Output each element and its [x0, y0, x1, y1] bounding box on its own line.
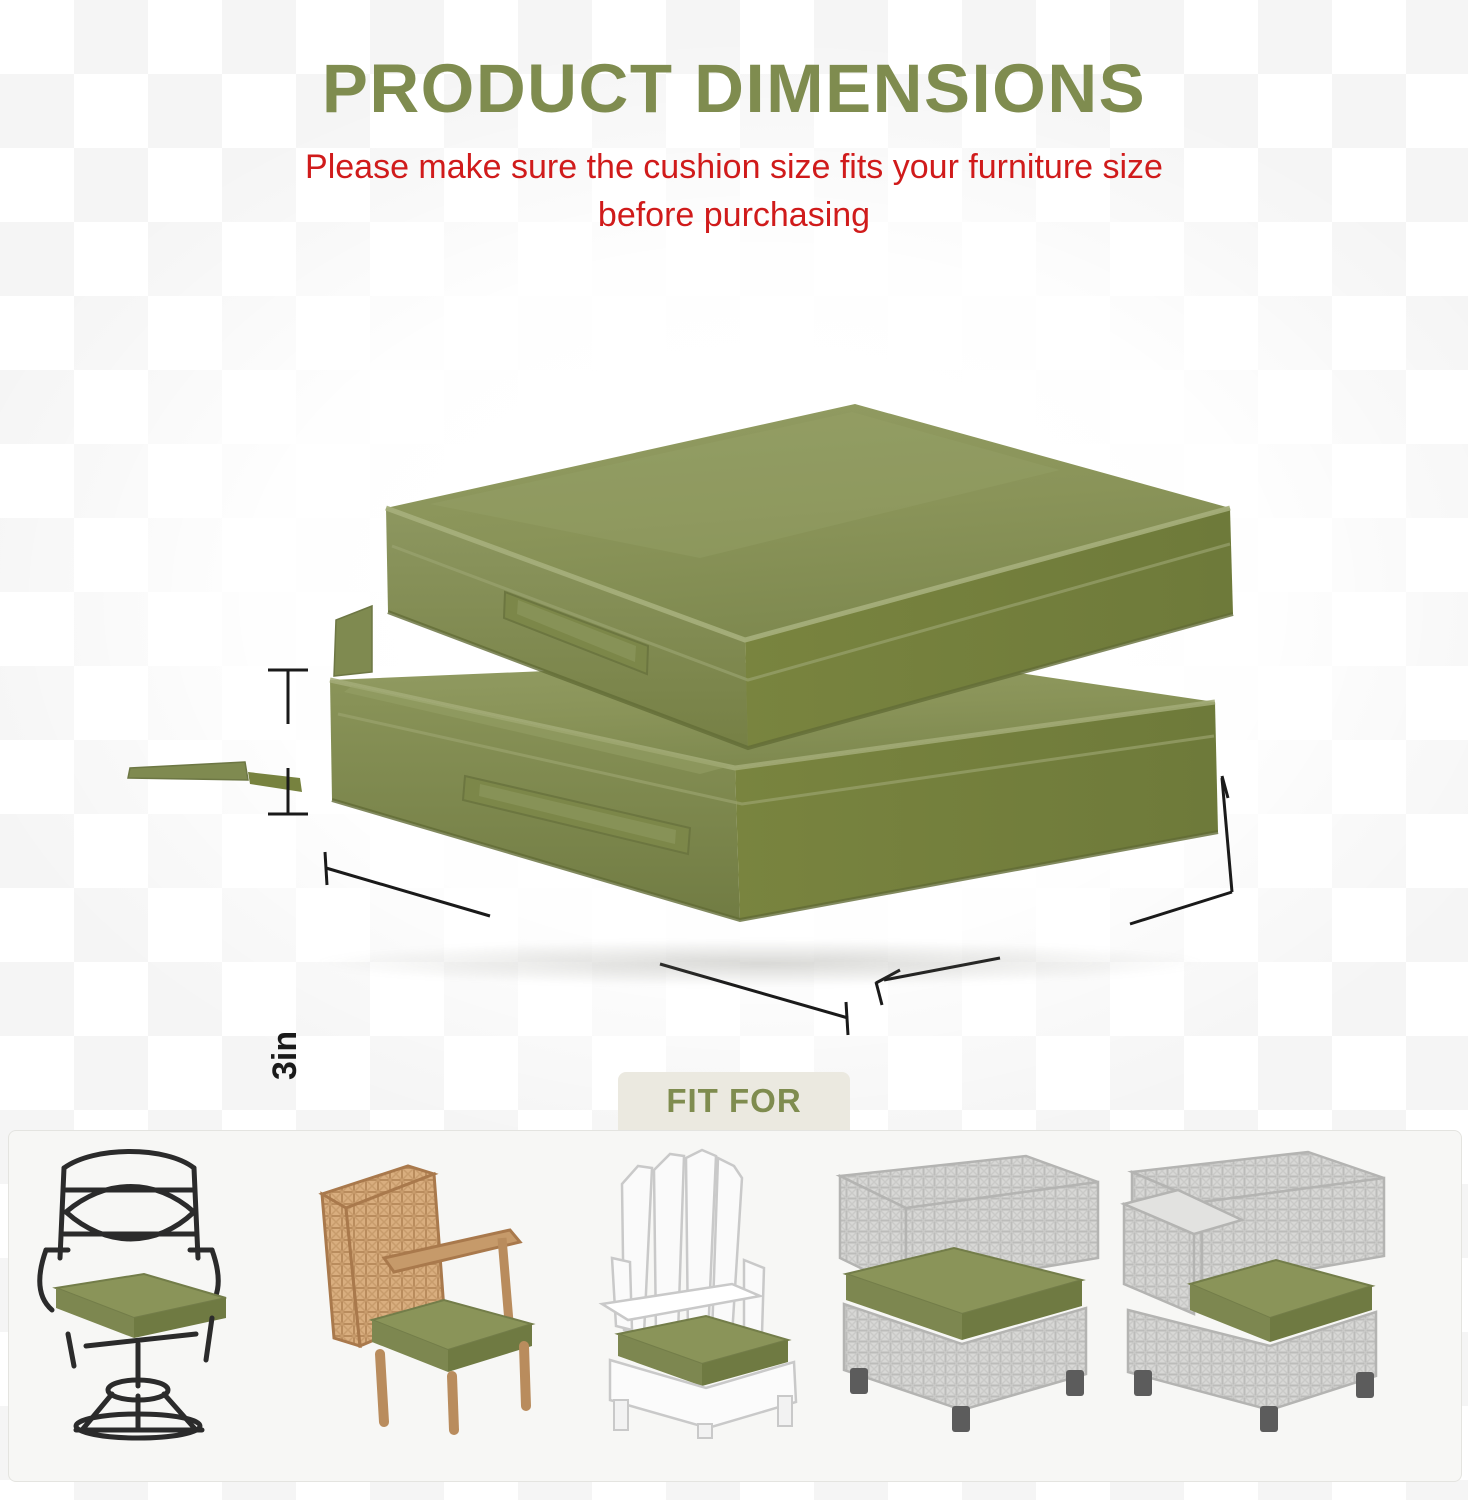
fit-item-swivel-metal-patio-chair [16, 1138, 294, 1438]
fit-item-wicker-rattan-dining-chair [288, 1138, 566, 1438]
header: PRODUCT DIMENSIONS Please make sure the … [0, 52, 1468, 240]
product-photo: 16in 17in 3in [0, 380, 1468, 1040]
fit-item-white-adirondack-chair [556, 1138, 834, 1438]
fit-item-grey-wicker-armless-sofa [830, 1138, 1108, 1438]
cushion-tie-strap-top [334, 606, 372, 676]
cushion-tie-strap-bottom-2 [248, 772, 302, 792]
cushion-tie-strap-bottom [128, 762, 248, 780]
fit-for-section: FIT FOR [0, 1072, 1468, 1492]
dimension-line-thickness [268, 670, 308, 814]
fit-for-label: FIT FOR [618, 1072, 850, 1130]
fit-item-grey-wicker-corner-sofa [1118, 1138, 1396, 1438]
page-title: PRODUCT DIMENSIONS [0, 52, 1468, 125]
fit-for-tab: FIT FOR [618, 1072, 850, 1130]
page-subtitle: Please make sure the cushion size fits y… [284, 143, 1184, 240]
product-shadow [320, 940, 1200, 986]
